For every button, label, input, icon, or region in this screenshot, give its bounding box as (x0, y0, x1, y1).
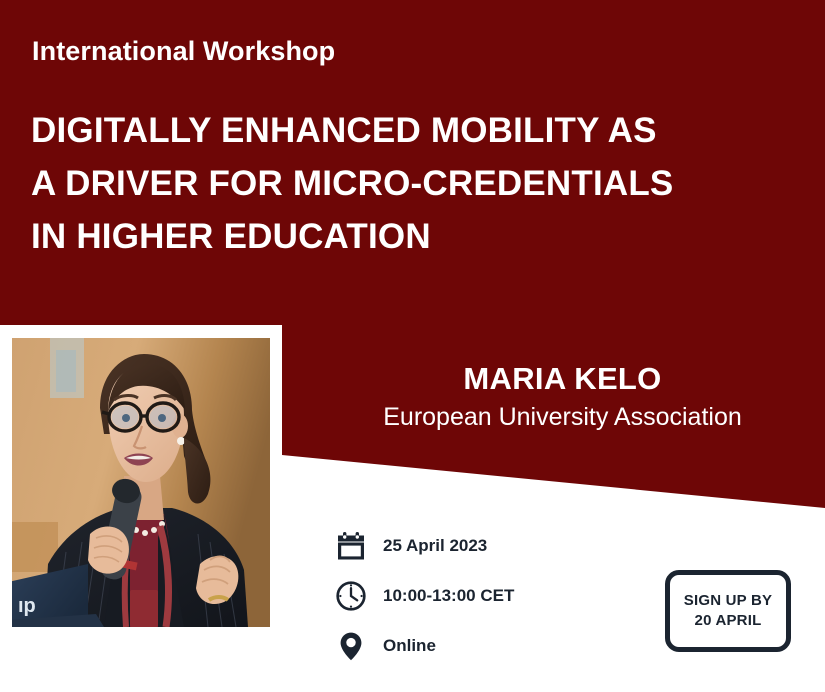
speaker-photo-image: ıp (12, 338, 270, 627)
detail-row-time: 10:00-13:00 CET (333, 571, 514, 621)
detail-text-time: 10:00-13:00 CET (383, 586, 514, 606)
svg-text:ıp: ıp (18, 595, 36, 617)
poster-headline: DIGITALLY ENHANCED MOBILITY AS A DRIVER … (31, 104, 801, 264)
headline-line-3: IN HIGHER EDUCATION (31, 210, 801, 263)
speaker-organisation: European University Association (370, 403, 755, 432)
detail-row-date: 25 April 2023 (333, 521, 514, 571)
signup-badge-line-2: 20 APRIL (695, 611, 762, 631)
speaker-name: MARIA KELO (370, 361, 755, 397)
event-details: 25 April 2023 10:00-13:00 CET (333, 521, 514, 671)
detail-text-location: Online (383, 636, 436, 656)
speaker-photo: ıp (12, 338, 270, 627)
detail-text-date: 25 April 2023 (383, 536, 487, 556)
detail-row-location: Online (333, 621, 514, 671)
speaker-photo-frame: ıp (0, 325, 282, 640)
headline-line-2: A DRIVER FOR MICRO-CREDENTIALS (31, 157, 801, 210)
signup-badge[interactable]: SIGN UP BY 20 APRIL (665, 570, 791, 652)
signup-badge-line-1: SIGN UP BY (684, 591, 772, 611)
calendar-icon (333, 528, 369, 564)
event-poster: International Workshop DIGITALLY ENHANCE… (0, 0, 825, 692)
poster-kicker: International Workshop (32, 36, 335, 67)
headline-line-1: DIGITALLY ENHANCED MOBILITY AS (31, 104, 801, 157)
clock-icon (333, 578, 369, 614)
location-pin-icon (333, 628, 369, 664)
